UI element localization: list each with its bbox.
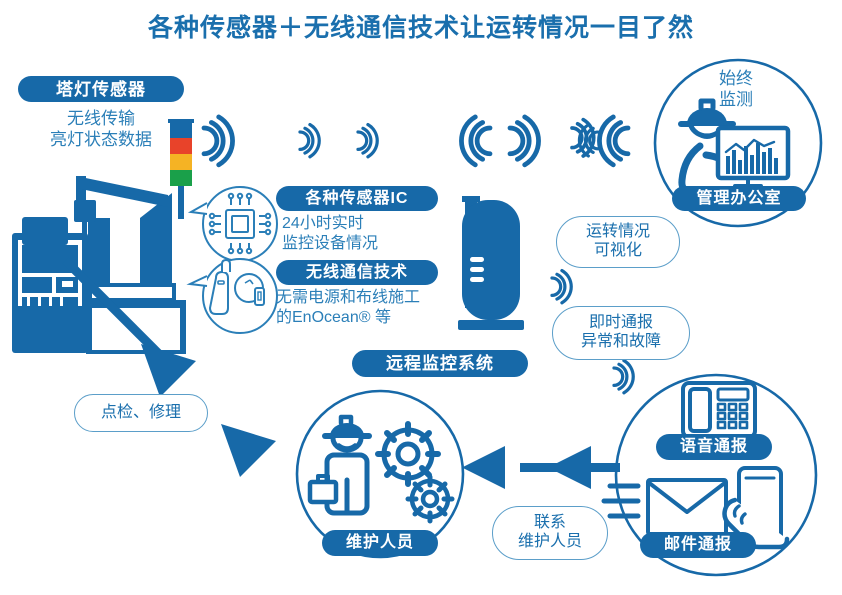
wireless-transmitter-icon (190, 259, 277, 333)
label-instant-notification: 即时通报 异常和故障 (552, 306, 690, 360)
label-instant-notification-line1: 即时通报 (589, 314, 653, 333)
label-visualization: 运转情况 可视化 (556, 216, 680, 268)
wireless-technology-description: 无需电源和布线施工 的EnOcean® 等 (276, 288, 466, 328)
wifi-arc-icon (358, 125, 377, 157)
sensor-ic-description: 24小时实时 监控设备情况 (282, 214, 454, 254)
wifi-arc-icon (204, 117, 233, 165)
badge-sensor-ic[interactable]: 各种传感器IC (276, 186, 438, 211)
badge-mail-notification[interactable]: 邮件通报 (640, 532, 756, 558)
desk-phone-icon (683, 383, 755, 437)
badge-remote-monitoring-system[interactable]: 远程监控系统 (352, 350, 528, 377)
wifi-arc-icon (300, 125, 319, 157)
badge-management-office[interactable]: 管理办公室 (672, 186, 806, 211)
envelope-icon (604, 480, 726, 534)
wireless-router-icon (458, 196, 524, 330)
always-monitoring-text: 始终 监测 (690, 68, 782, 111)
wifi-arc-icon (510, 117, 539, 165)
diagram-canvas: 各种传感器＋无线通信技术让运转情况一目了然 塔灯传感器 无线传输 亮灯状态数据 … (0, 0, 842, 595)
wifi-arc-icon (614, 361, 633, 393)
wifi-arc-icon (461, 117, 490, 165)
page-title: 各种传感器＋无线通信技术让运转情况一目了然 (0, 8, 842, 44)
label-contact-line2: 维护人员 (518, 533, 582, 552)
wifi-arc-icon (579, 125, 598, 156)
label-contact-line1: 联系 (534, 514, 566, 533)
arrow-left-double (462, 446, 620, 489)
wifi-arc-icon (552, 271, 571, 303)
label-inspection-repair-line1: 点检、修理 (101, 404, 181, 423)
wifi-arc-icon (572, 120, 594, 156)
wifi-arc-icon (599, 117, 628, 165)
label-visualization-line2: 可视化 (594, 242, 642, 261)
badge-maintenance-staff[interactable]: 维护人员 (322, 530, 438, 556)
arrow-upleft-double (62, 257, 276, 477)
microchip-icon (190, 187, 277, 261)
label-contact-maintenance: 联系 维护人员 (492, 506, 608, 560)
label-inspection-repair: 点检、修理 (74, 394, 208, 432)
worker-with-gears-icon (310, 417, 452, 521)
badge-wireless-technology[interactable]: 无线通信技术 (276, 260, 438, 285)
badge-tower-light-sensor[interactable]: 塔灯传感器 (18, 76, 184, 102)
cnc-machine-icon (12, 176, 186, 354)
operator-at-monitor-icon (680, 101, 788, 191)
badge-voice-notification[interactable]: 语音通报 (656, 434, 772, 460)
label-instant-notification-line2: 异常和故障 (581, 333, 661, 352)
label-visualization-line1: 运转情况 (586, 223, 650, 242)
tower-light-description: 无线传输 亮灯状态数据 (8, 108, 194, 151)
